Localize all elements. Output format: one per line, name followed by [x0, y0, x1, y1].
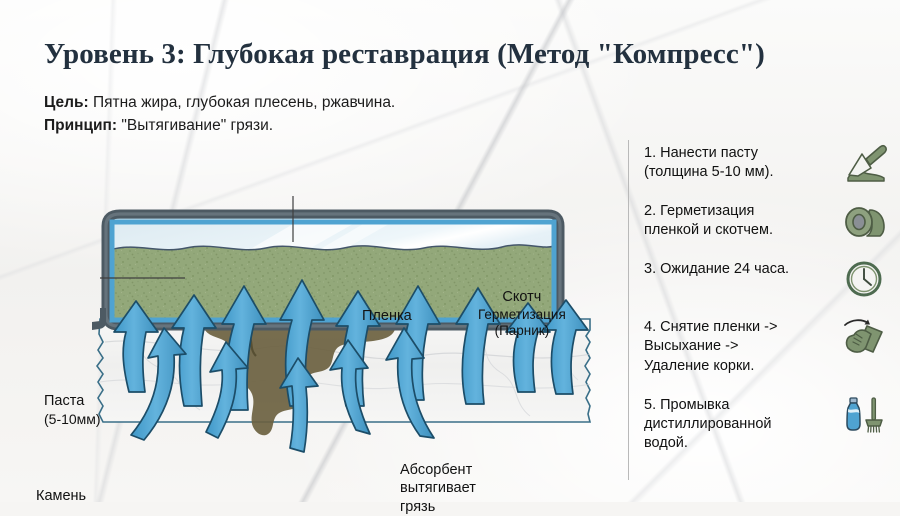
step-item-3: 3. Ожидание 24 часа.	[644, 258, 890, 302]
tape-roll-icon	[840, 200, 890, 244]
header: Уровень 3: Глубокая реставрация (Метод "…	[44, 38, 864, 138]
label-absorbent: Абсорбент вытягивает грязь	[400, 461, 476, 516]
label-paste-line2: (5-10мм)	[44, 411, 101, 428]
step-item-1: 1. Нанести пасту (толщина 5-10 мм).	[644, 142, 890, 186]
goal-line: Цель: Пятна жира, глубокая плесень, ржав…	[44, 92, 864, 114]
steps-list: 1. Нанести пасту (толщина 5-10 мм). 2. Г…	[644, 142, 890, 467]
step-3-text: 3. Ожидание 24 часа.	[644, 258, 836, 279]
compress-method-diagram: Пленка Скотч Герметизация (Парник) Паста…	[0, 130, 628, 502]
clock-icon	[840, 258, 890, 302]
goal-text: Пятна жира, глубокая плесень, ржавчина.	[89, 94, 396, 111]
label-paste-line1: Паста	[44, 393, 101, 411]
trowel-paste-icon	[840, 142, 890, 186]
step-1-text: 1. Нанести пасту (толщина 5-10 мм).	[644, 142, 836, 183]
step-item-2: 2. Герметизация пленкой и скотчем.	[644, 200, 890, 244]
label-tape-line1: Скотч	[478, 289, 566, 307]
label-tape: Скотч Герметизация (Парник)	[478, 289, 566, 340]
hand-peel-icon	[840, 316, 890, 360]
label-film: Пленка	[362, 308, 412, 326]
step-4-text: 4. Снятие пленки -> Высыхание -> Удалени…	[644, 316, 836, 376]
label-absorbent-line1: Абсорбент	[400, 461, 476, 479]
label-tape-line2: Герметизация	[478, 307, 566, 323]
label-absorbent-line3: грязь	[400, 498, 476, 516]
step-item-5: 5. Промывка дистиллированной водой.	[644, 394, 890, 454]
page-title: Уровень 3: Глубокая реставрация (Метод "…	[44, 38, 864, 71]
panel-divider	[628, 140, 629, 480]
goal-label: Цель:	[44, 94, 89, 111]
bottle-brush-icon	[840, 394, 890, 438]
label-stone: Камень	[36, 488, 86, 506]
label-tape-line3: (Парник)	[478, 323, 566, 339]
label-absorbent-line2: вытягивает	[400, 479, 476, 497]
step-2-text: 2. Герметизация пленкой и скотчем.	[644, 200, 836, 241]
label-paste: Паста (5-10мм)	[44, 393, 101, 428]
step-item-4: 4. Снятие пленки -> Высыхание -> Удалени…	[644, 316, 890, 376]
step-5-text: 5. Промывка дистиллированной водой.	[644, 394, 836, 454]
